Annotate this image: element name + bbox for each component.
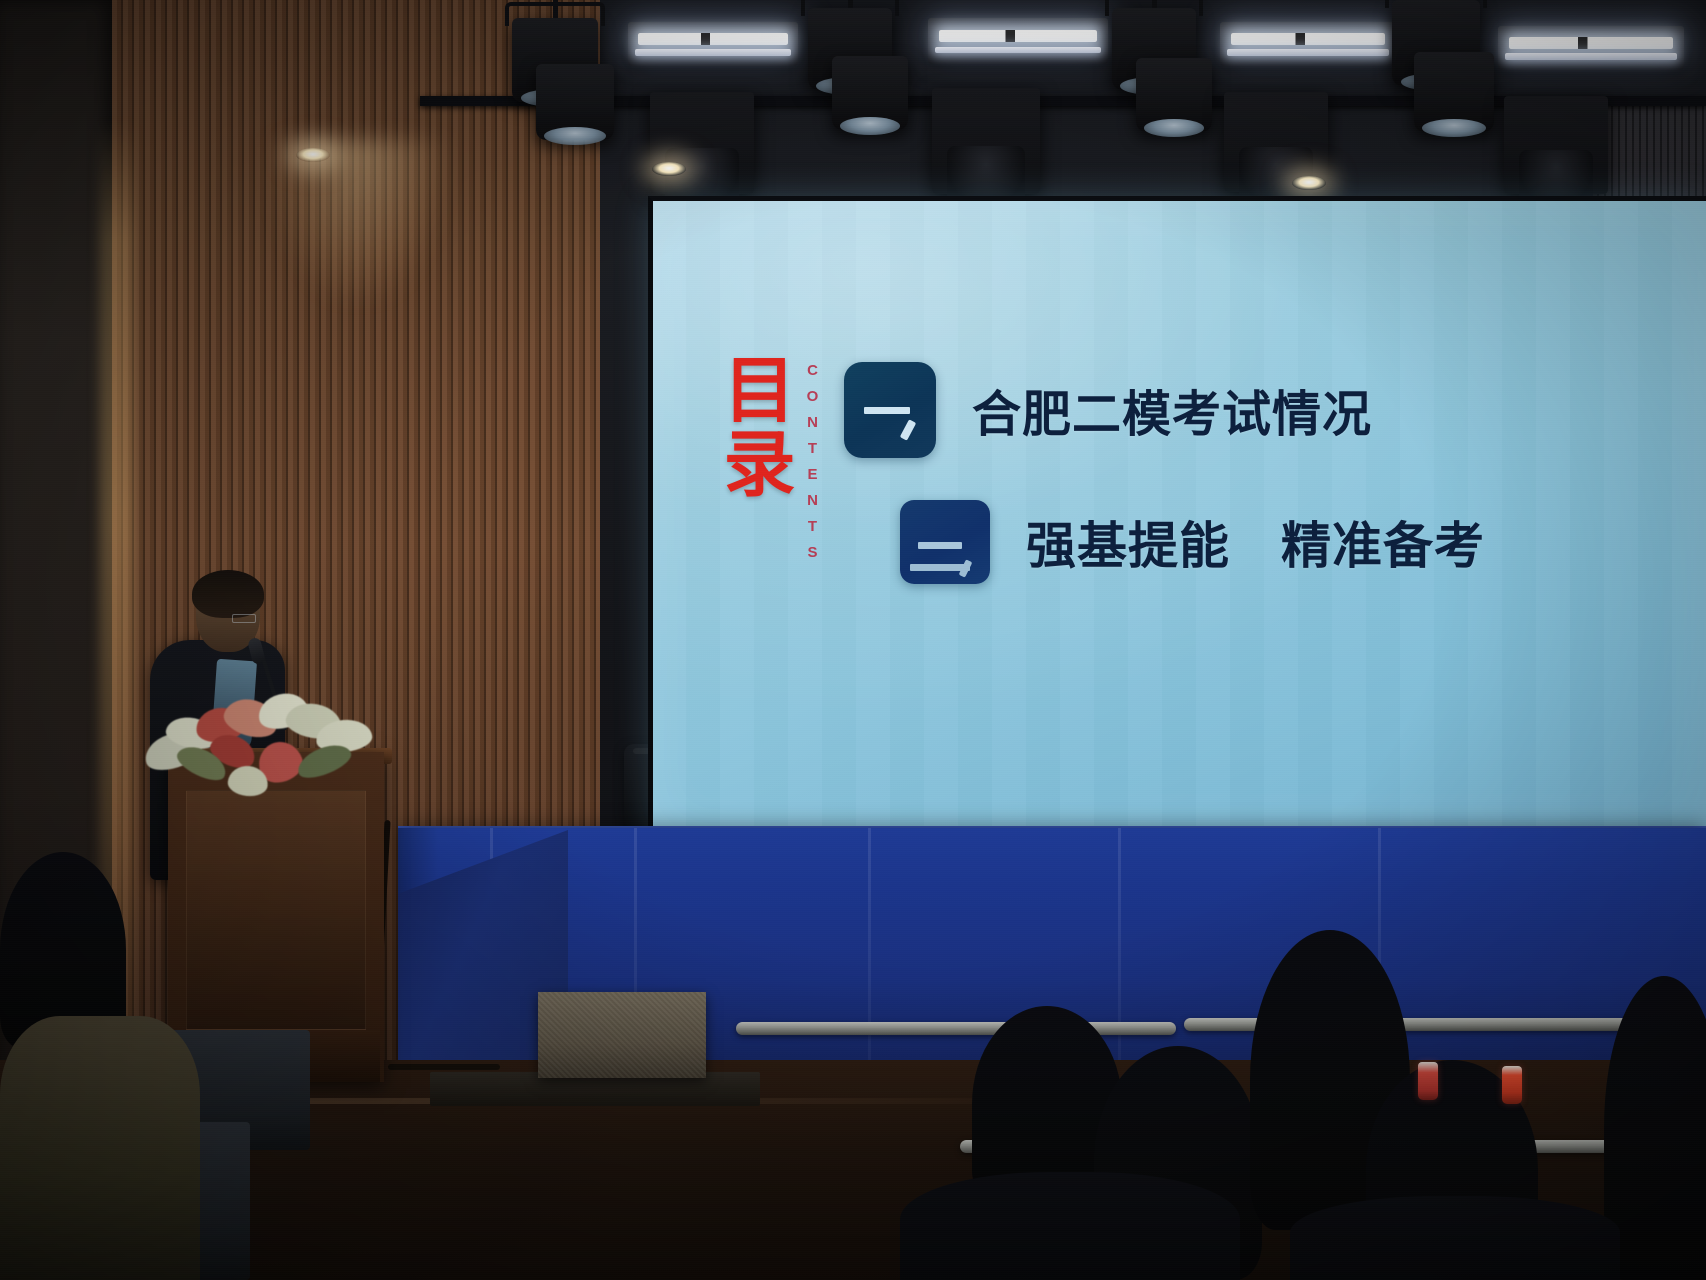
moving-head-lens bbox=[947, 146, 1025, 207]
slide-item-2-label: 强基提能 精准备考 bbox=[1026, 506, 1485, 578]
light-tube-icon bbox=[1505, 53, 1676, 60]
auditorium-photo: 目录 CONTENTS 合肥二模考试情况 强基提能 精准备考 bbox=[0, 0, 1706, 1280]
number-badge-two-icon bbox=[900, 500, 990, 584]
ceiling-downlight-icon bbox=[1292, 176, 1326, 190]
moving-head-light-icon bbox=[1504, 96, 1608, 194]
podium-front-panel bbox=[186, 790, 366, 1030]
moving-head-light-icon bbox=[932, 88, 1040, 194]
moving-head-light-icon bbox=[650, 92, 754, 194]
ceiling-downlight-icon bbox=[652, 162, 686, 176]
slide-item-1: 合肥二模考试情况 bbox=[844, 362, 1372, 458]
spotlight-yoke bbox=[1385, 0, 1487, 8]
light-tube-icon bbox=[638, 33, 788, 44]
light-bar-2 bbox=[928, 18, 1108, 64]
spotlight-stem bbox=[553, 0, 558, 18]
light-bar-3 bbox=[1220, 22, 1396, 66]
light-tube-icon bbox=[935, 47, 1101, 54]
spotlight-icon bbox=[832, 56, 908, 130]
light-tube-icon bbox=[939, 30, 1097, 42]
moving-head-lens bbox=[1519, 150, 1594, 207]
spotlight-stem bbox=[848, 0, 853, 8]
audience-person-coat bbox=[0, 1016, 200, 1280]
audience-shoulders bbox=[900, 1172, 1240, 1280]
spotlight-icon bbox=[536, 64, 614, 140]
light-tube-icon bbox=[1227, 49, 1389, 56]
light-bar-1 bbox=[628, 22, 798, 66]
moving-head-lens bbox=[665, 148, 740, 207]
projector-case bbox=[538, 992, 706, 1078]
slide-heading-en: CONTENTS bbox=[804, 362, 821, 570]
seat-rail bbox=[736, 1022, 1176, 1035]
stroke-horizontal bbox=[864, 407, 910, 414]
spotlight-lens bbox=[840, 117, 901, 135]
speaker-hair bbox=[192, 570, 264, 618]
light-tube-icon bbox=[635, 49, 791, 56]
number-badge-one-icon bbox=[844, 362, 936, 458]
glasses-icon bbox=[232, 614, 256, 623]
stroke-comma bbox=[959, 559, 973, 577]
projection-screen: 目录 CONTENTS 合肥二模考试情况 强基提能 精准备考 bbox=[652, 200, 1706, 836]
spotlight-icon bbox=[1136, 58, 1212, 132]
spotlight-stem bbox=[1152, 0, 1157, 8]
ceiling-downlight-icon bbox=[296, 148, 330, 162]
light-tube-icon bbox=[1231, 33, 1386, 44]
spotlight-lens bbox=[1422, 119, 1486, 137]
flower-arrangement bbox=[140, 690, 394, 800]
water-bottle bbox=[1502, 1066, 1522, 1104]
spotlight-lens bbox=[544, 127, 606, 145]
stage-lighting-truss bbox=[0, 0, 1706, 200]
slide-contents: 目录 CONTENTS 合肥二模考试情况 强基提能 精准备考 bbox=[652, 200, 1706, 836]
spotlight-lens bbox=[1144, 119, 1205, 137]
light-bar-4 bbox=[1498, 26, 1684, 70]
light-tube-icon bbox=[1509, 37, 1673, 48]
slide-item-2: 强基提能 精准备考 bbox=[900, 500, 1485, 584]
slide-heading-cn: 目录 bbox=[710, 352, 795, 500]
stroke-horizontal-top bbox=[918, 542, 962, 549]
power-cable bbox=[388, 1064, 500, 1070]
audience-shoulders bbox=[1290, 1196, 1620, 1280]
water-bottle bbox=[1418, 1062, 1438, 1100]
slide-item-1-label: 合肥二模考试情况 bbox=[972, 375, 1372, 446]
spotlight-icon bbox=[1414, 52, 1494, 132]
stroke-comma bbox=[900, 419, 916, 440]
